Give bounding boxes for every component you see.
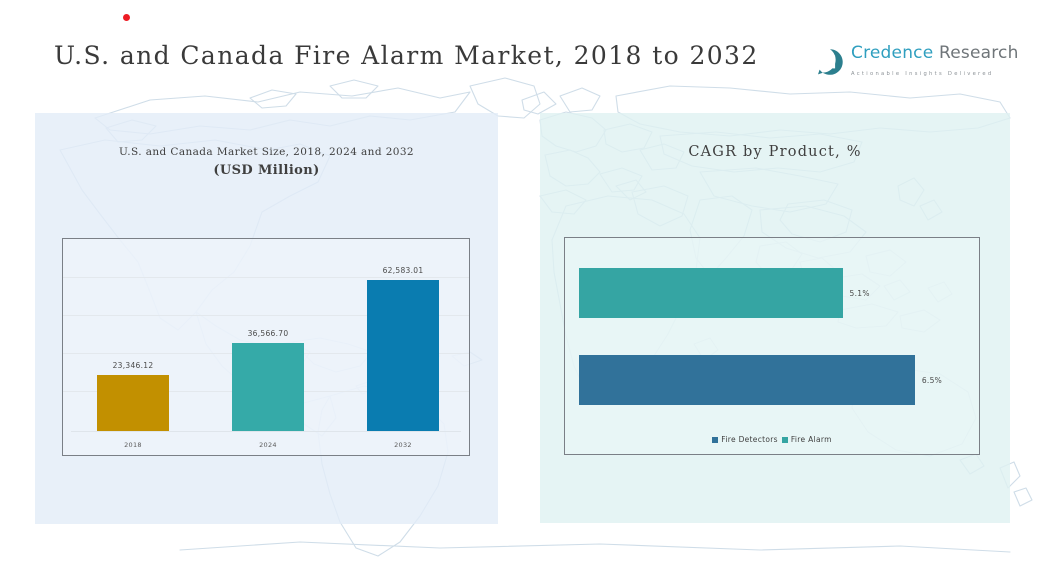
category-label-2018: 2018	[97, 441, 169, 449]
x-axis-baseline	[71, 431, 461, 432]
left-chart-title-line1: U.S. and Canada Market Size, 2018, 2024 …	[35, 146, 498, 158]
legend-item-fire-alarm[interactable]: Fire Alarm	[782, 435, 832, 444]
credence-research-logo: Credence Research Actionable Insights De…	[816, 45, 1046, 78]
bar-2024[interactable]	[232, 343, 304, 431]
legend-swatch-icon	[782, 437, 788, 443]
category-label-2032: 2032	[367, 441, 439, 449]
bar-group-2024[interactable]: 36,566.70	[232, 329, 304, 431]
bar-value-label: 5.1%	[850, 289, 870, 298]
red-dot-marker	[123, 14, 130, 21]
bar-group-fire-detectors[interactable]: 6.5%	[579, 355, 973, 405]
right-chart-title: CAGR by Product, %	[540, 144, 1010, 160]
bar-value-label: 23,346.12	[113, 361, 154, 370]
legend-item-fire-detectors[interactable]: Fire Detectors	[712, 435, 778, 444]
cagr-by-product-bar-chart: 5.1% 6.5% Fire Detectors Fire Alarm	[564, 237, 980, 455]
bar-fire-alarm[interactable]	[579, 268, 843, 318]
logo-tagline: Actionable Insights Delivered	[851, 71, 993, 77]
left-chart-title-line2: (USD Million)	[35, 163, 498, 178]
bar-value-label: 36,566.70	[248, 329, 289, 338]
category-label-2024: 2024	[232, 441, 304, 449]
market-size-bar-chart: 23,346.12 2018 36,566.70 2024 62,583.01 …	[62, 238, 470, 456]
bar-2018[interactable]	[97, 375, 169, 431]
logo-word-credence: Credence	[851, 43, 933, 63]
legend-swatch-icon	[712, 437, 718, 443]
bar-group-fire-alarm[interactable]: 5.1%	[579, 268, 973, 318]
chart-legend: Fire Detectors Fire Alarm	[565, 435, 979, 444]
bar-group-2018[interactable]: 23,346.12	[97, 361, 169, 431]
bar-chart-circle-icon	[816, 48, 844, 76]
bar-group-2032[interactable]: 62,583.01	[367, 266, 439, 431]
legend-label: Fire Alarm	[791, 435, 832, 444]
bar-value-label: 62,583.01	[383, 266, 424, 275]
logo-wordmark: Credence Research	[851, 43, 1019, 63]
page-title: U.S. and Canada Fire Alarm Market, 2018 …	[54, 41, 759, 70]
left-panel: U.S. and Canada Market Size, 2018, 2024 …	[35, 113, 498, 524]
legend-label: Fire Detectors	[721, 435, 778, 444]
logo-word-research: Research	[939, 43, 1019, 63]
bar-fire-detectors[interactable]	[579, 355, 915, 405]
bar-value-label: 6.5%	[922, 376, 942, 385]
bar-2032[interactable]	[367, 280, 439, 431]
infographic-canvas: U.S. and Canada Fire Alarm Market, 2018 …	[0, 0, 1046, 562]
right-panel: CAGR by Product, % 5.1% 6.5% Fire Detect…	[540, 113, 1010, 523]
